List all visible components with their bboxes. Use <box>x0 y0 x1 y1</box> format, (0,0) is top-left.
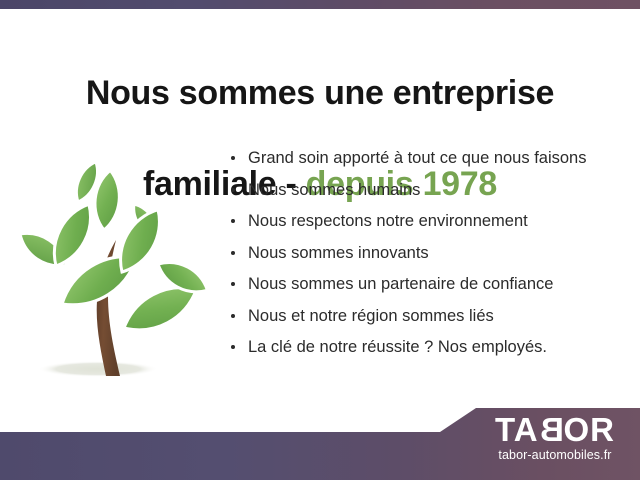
list-item-label: Nous sommes innovants <box>248 244 429 262</box>
tree-illustration <box>12 142 212 382</box>
top-accent-bar <box>0 0 640 9</box>
logo-mirrored-b-icon: B <box>539 413 564 447</box>
slide-canvas: Nous sommes une entreprise familiale - d… <box>0 0 640 480</box>
list-item: Nous sommes humains <box>230 181 630 200</box>
headline-line-1: Nous sommes une entreprise <box>0 71 640 116</box>
list-item-label: Nous respectons notre environnement <box>248 212 528 230</box>
logo-wordmark: TABOR <box>480 413 630 447</box>
bullet-dot-icon <box>231 314 235 318</box>
brand-logo[interactable]: TABOR tabor-automobiles.fr <box>480 413 630 463</box>
logo-text-or: OR <box>563 411 615 448</box>
list-item-label: Grand soin apporté à tout ce que nous fa… <box>248 149 586 167</box>
logo-tagline: tabor-automobiles.fr <box>480 448 630 463</box>
bullet-dot-icon <box>231 251 235 255</box>
list-item-label: La clé de notre réussite ? Nos employés. <box>248 338 547 356</box>
list-item-label: Nous sommes un partenaire de confiance <box>248 275 553 293</box>
list-item: La clé de notre réussite ? Nos employés. <box>230 338 630 357</box>
bullet-dot-icon <box>231 345 235 349</box>
bullet-dot-icon <box>231 156 235 160</box>
bullet-dot-icon <box>231 219 235 223</box>
list-item-label: Nous sommes humains <box>248 181 420 199</box>
list-item-label: Nous et notre région sommes liés <box>248 307 494 325</box>
tree-shadow <box>38 361 158 377</box>
list-item: Nous et notre région sommes liés <box>230 307 630 326</box>
list-item: Nous sommes innovants <box>230 244 630 263</box>
list-item: Grand soin apporté à tout ce que nous fa… <box>230 149 630 168</box>
benefits-list: Grand soin apporté à tout ce que nous fa… <box>230 149 630 370</box>
list-item: Nous respectons notre environnement <box>230 212 630 231</box>
bullet-dot-icon <box>231 282 235 286</box>
logo-text-ta: TA <box>495 411 539 448</box>
bullet-dot-icon <box>231 188 235 192</box>
list-item: Nous sommes un partenaire de confiance <box>230 275 630 294</box>
